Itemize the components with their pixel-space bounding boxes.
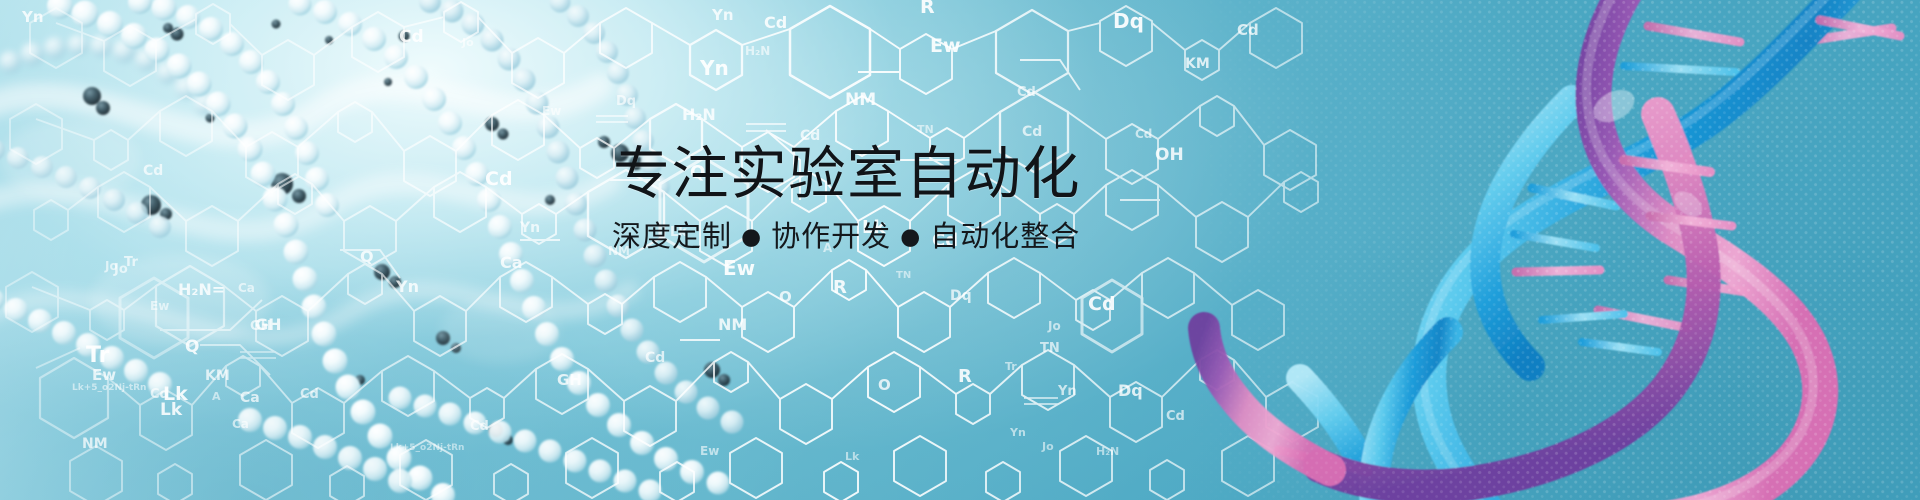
chem-label: Jo xyxy=(1047,319,1061,333)
chem-label: Dq xyxy=(950,288,972,304)
chem-label: Cd xyxy=(300,387,319,402)
chem-label: Lk+5_o2Nj-tRn xyxy=(390,443,464,453)
chem-label: NM xyxy=(718,315,747,334)
chem-label: Cd xyxy=(1017,85,1036,100)
chem-label: O xyxy=(878,376,891,394)
chem-label: R xyxy=(920,0,935,18)
chem-label: Q xyxy=(690,162,705,183)
chem-label: Ca xyxy=(232,417,249,431)
chem-label: O xyxy=(779,288,792,306)
chem-label: Ca xyxy=(238,281,255,295)
chem-label: NM xyxy=(608,244,630,258)
chem-label: Cd xyxy=(932,230,958,251)
chem-label: Ew xyxy=(92,366,116,384)
chem-label: R xyxy=(958,366,972,387)
chem-label: Yn xyxy=(699,56,729,80)
chem-label: Cd xyxy=(399,27,424,47)
chem-label: Yn xyxy=(1057,384,1077,399)
chem-label: R xyxy=(833,277,847,298)
chem-label: H₂N= xyxy=(178,280,225,299)
chem-label: Cd xyxy=(1135,127,1152,141)
chem-label: H₂N xyxy=(682,105,716,124)
chem-label: Ew xyxy=(723,256,755,280)
chem-label: TN xyxy=(1040,341,1060,356)
halftone-dot-pattern xyxy=(1180,0,1920,500)
chem-label: Lk+5_o2Nj-tRn xyxy=(72,383,146,393)
chem-label: KM xyxy=(205,368,230,384)
chem-label: H₂N xyxy=(1096,445,1119,458)
chem-label: A xyxy=(212,390,221,403)
chem-label: Lk xyxy=(845,450,860,463)
chem-label: Cd xyxy=(143,163,163,179)
chem-label: H₂N xyxy=(745,44,770,58)
chem-label: NM xyxy=(82,436,108,452)
chem-label: Jo xyxy=(1041,440,1054,453)
hero-banner: YnCdJoYnH₂NYnCdEwKMRDqCdEwDqH₂NNMOHCdCdC… xyxy=(0,0,1920,500)
chem-label: A xyxy=(823,241,833,255)
chem-label: Ew xyxy=(700,444,719,458)
chem-label: Lk xyxy=(670,225,687,240)
chem-label: Ca xyxy=(500,253,523,272)
chem-label: Q xyxy=(185,337,199,357)
chem-label: Jo xyxy=(461,36,474,49)
chem-label: NM xyxy=(845,90,876,110)
chem-label: Ca xyxy=(240,390,260,406)
chem-label: TN xyxy=(896,270,911,281)
chem-label: Dq xyxy=(1113,9,1144,33)
chem-label: Cd xyxy=(470,419,489,434)
chem-label: TN xyxy=(917,123,934,136)
chem-label: Dq xyxy=(1118,381,1143,400)
chem-label: Yn xyxy=(395,277,419,296)
chem-label: Lk xyxy=(160,400,183,420)
chem-label: GH xyxy=(557,371,582,389)
chem-label: GH xyxy=(250,319,272,334)
chem-label: Cd xyxy=(645,350,665,366)
chem-label: Yn xyxy=(1009,426,1026,439)
chem-label: Ew xyxy=(542,104,561,118)
chem-label: Tr xyxy=(124,255,138,270)
chem-label: Tr xyxy=(86,343,110,368)
chem-label: Cd xyxy=(800,128,820,144)
chem-label: Cd xyxy=(1022,124,1042,140)
chem-label: Tr xyxy=(1005,360,1017,373)
chem-label: Cd xyxy=(1088,293,1116,315)
chem-label: Ew xyxy=(150,299,169,313)
chem-label: Lk xyxy=(862,217,886,238)
chem-label: Yn xyxy=(21,8,44,26)
chem-label: Dq xyxy=(616,94,636,109)
chem-label: Cd xyxy=(485,168,513,190)
chem-label: Ew xyxy=(930,35,961,57)
chem-label: Q xyxy=(360,247,374,266)
chem-label: Yn xyxy=(519,220,540,236)
chem-label: Yn xyxy=(711,6,734,24)
chem-label: Cd xyxy=(764,13,787,32)
chemical-structure-overlay: YnCdJoYnH₂NYnCdEwKMRDqCdEwDqH₂NNMOHCdCdC… xyxy=(0,0,1320,500)
